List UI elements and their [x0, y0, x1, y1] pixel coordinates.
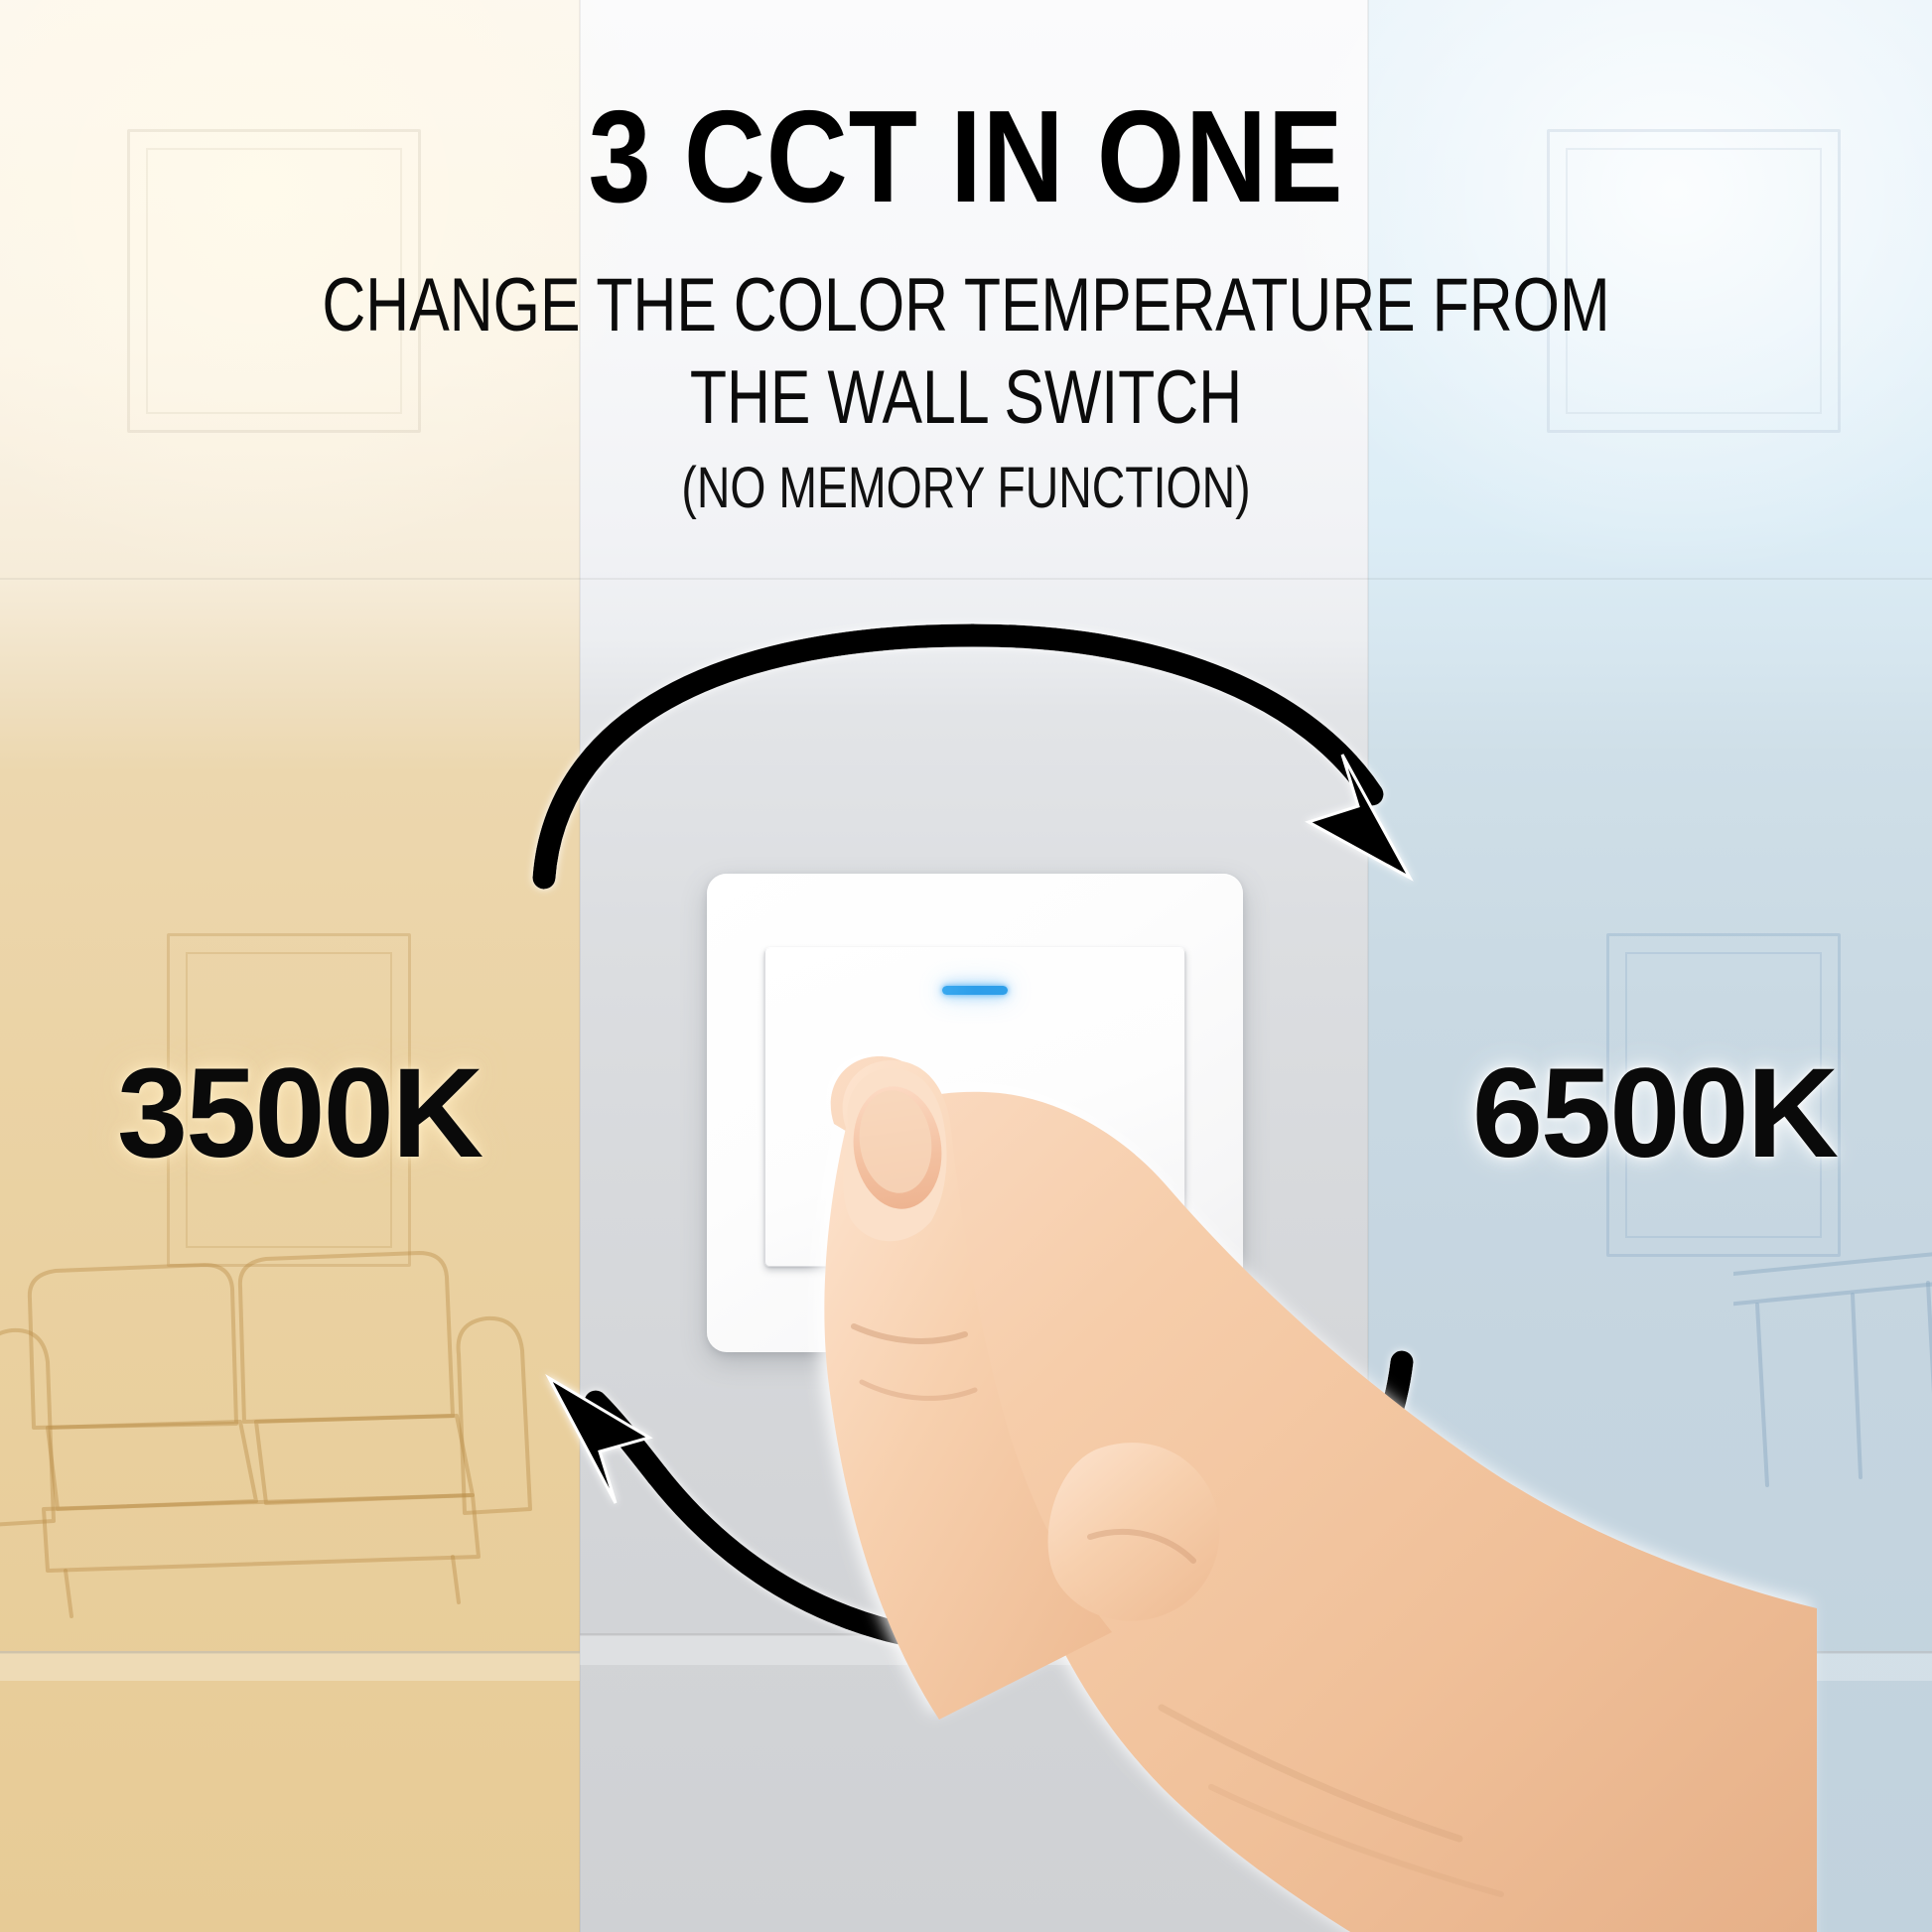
page-note: (NO MEMORY FUNCTION) — [194, 444, 1739, 517]
wall-switch-plate[interactable] — [707, 874, 1243, 1352]
sofa-illustration — [0, 1168, 606, 1634]
baseboard-right — [1368, 1651, 1932, 1681]
wall-seam-horizontal — [0, 578, 1932, 580]
promo-image: 3 CCT IN ONE CHANGE THE COLOR TEMPERATUR… — [0, 0, 1932, 1932]
baseboard-left — [0, 1651, 580, 1681]
cool-cct-label: 6500K — [1472, 1040, 1837, 1186]
warm-cct-label: 3500K — [117, 1040, 482, 1186]
header-block: 3 CCT IN ONE CHANGE THE COLOR TEMPERATUR… — [0, 0, 1932, 517]
side-table-illustration — [1733, 1158, 1932, 1575]
wall-switch-rocker[interactable] — [764, 947, 1185, 1267]
led-indicator-icon — [942, 986, 1008, 995]
baseboard-center — [580, 1633, 1368, 1665]
page-title: 3 CCT IN ONE — [135, 0, 1797, 222]
page-subtitle: CHANGE THE COLOR TEMPERATURE FROM THE WA… — [194, 222, 1739, 444]
